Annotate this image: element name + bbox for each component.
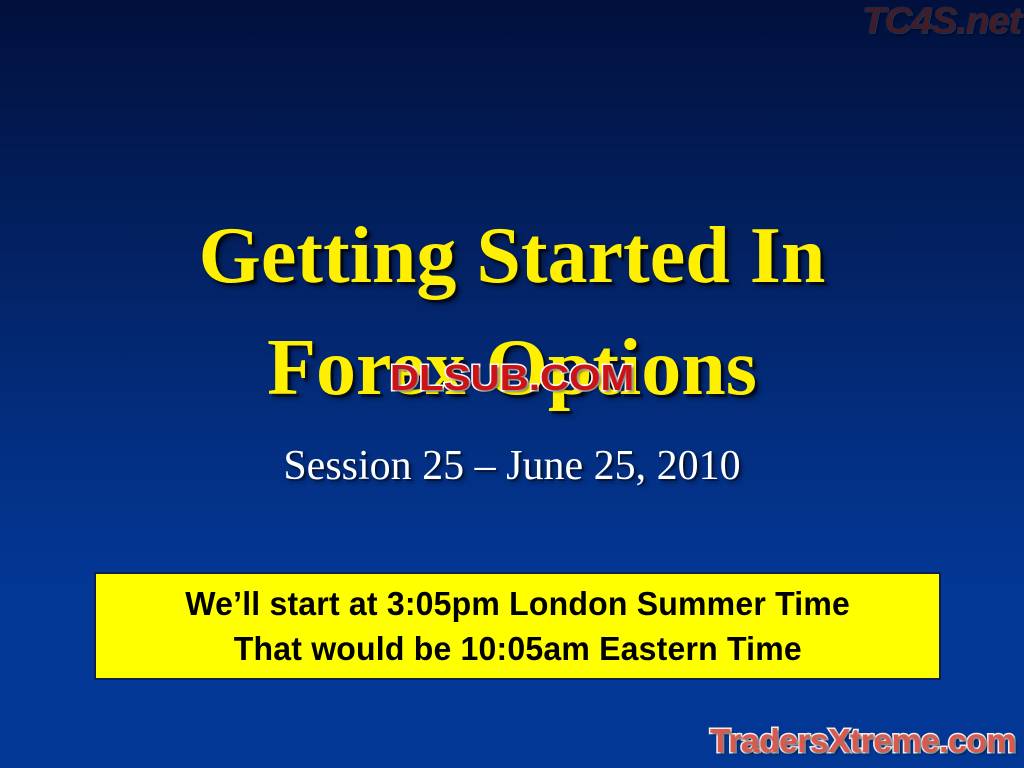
slide-title-line-2: Forex Options <box>0 312 1024 424</box>
callout-box: We’ll start at 3:05pm London Summer Time… <box>94 572 941 680</box>
presentation-slide: TC4S.net Getting Started In Forex Option… <box>0 0 1024 768</box>
callout-line-1: We’ll start at 3:05pm London Summer Time <box>185 581 850 626</box>
tc4s-watermark: TC4S.net <box>862 2 1020 39</box>
slide-subtitle: Session 25 – June 25, 2010 <box>0 440 1024 492</box>
slide-title: Getting Started In Forex Options <box>0 200 1024 424</box>
slide-title-line-1: Getting Started In <box>0 200 1024 312</box>
tradersxtreme-watermark: TradersXtreme.com <box>710 722 1016 760</box>
callout-line-2: That would be 10:05am Eastern Time <box>233 626 801 671</box>
